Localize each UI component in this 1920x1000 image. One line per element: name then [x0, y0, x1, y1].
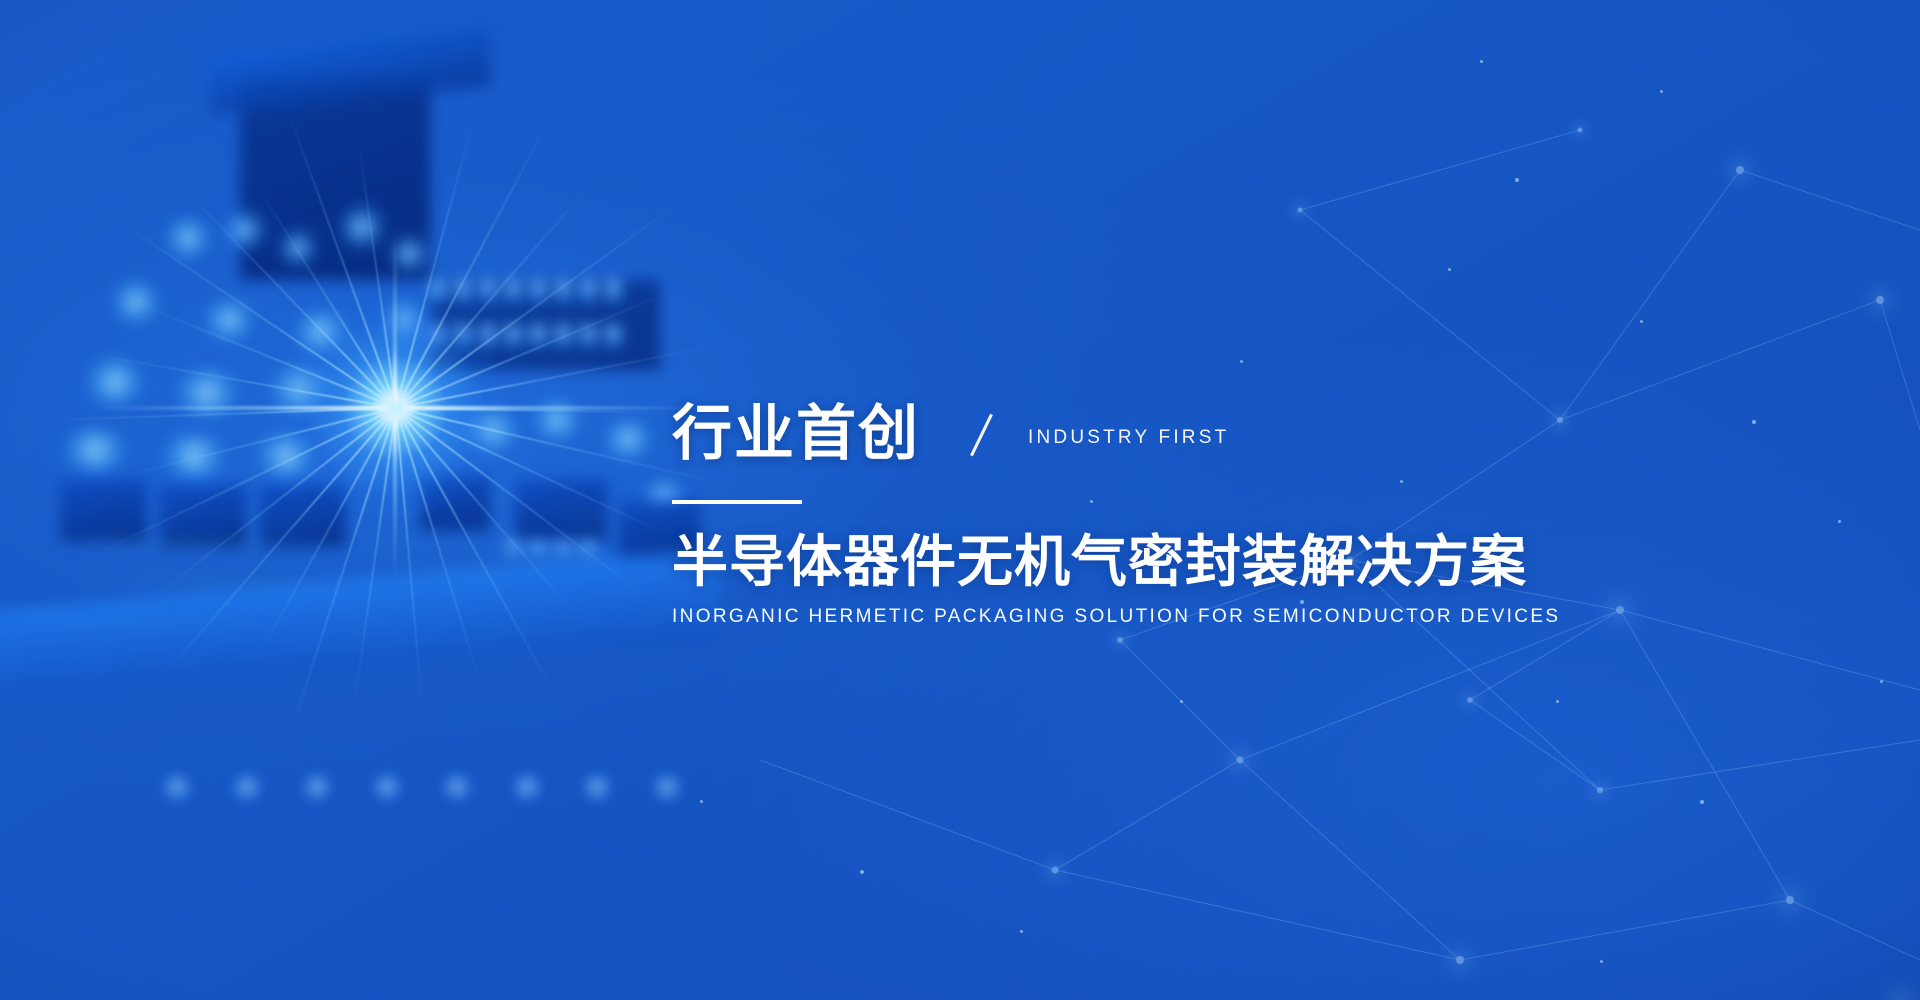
slash-separator-icon	[966, 414, 1000, 454]
title-divider-rule	[672, 500, 802, 504]
page-title-cn: 半导体器件无机气密封装解决方案	[672, 532, 1392, 592]
banner-content: 行业首创 INDUSTRY FIRST 半导体器件无机气密封装解决方案 INOR…	[672, 398, 1392, 628]
hero-banner: 行业首创 INDUSTRY FIRST 半导体器件无机气密封装解决方案 INOR…	[0, 0, 1920, 1000]
eyebrow-row: 行业首创 INDUSTRY FIRST	[672, 398, 1392, 470]
eyebrow-heading-cn: 行业首创	[672, 404, 920, 464]
eyebrow-heading-en: INDUSTRY FIRST	[1028, 419, 1229, 449]
page-title-en: INORGANIC HERMETIC PACKAGING SOLUTION FO…	[672, 606, 1392, 628]
